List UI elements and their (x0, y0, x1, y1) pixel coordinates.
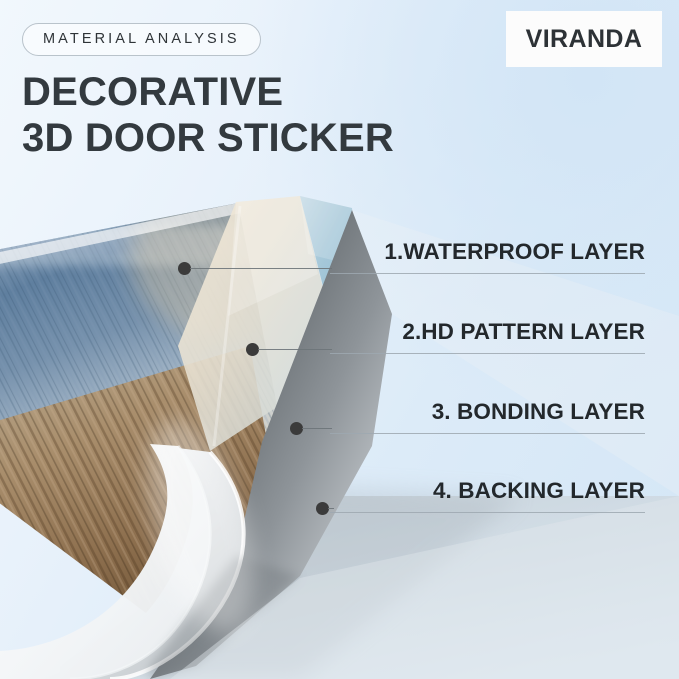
eyebrow-badge: MATERIAL ANALYSIS (22, 23, 261, 56)
callout-label-2: 2.HD PATTERN LAYER (402, 321, 645, 344)
callout-rule-3 (330, 433, 645, 434)
page-title: DECORATIVE 3D DOOR STICKER (22, 69, 394, 162)
callout-leader-2 (258, 349, 332, 350)
eyebrow-label: MATERIAL ANALYSIS (43, 31, 240, 47)
callout-hd-pattern-layer: 2.HD PATTERN LAYER (402, 321, 645, 344)
title-line-2: 3D DOOR STICKER (22, 115, 394, 161)
callout-leader-3 (302, 428, 332, 429)
brand-logo: VIRANDA (506, 11, 662, 67)
callout-rule-1 (330, 273, 645, 274)
title-line-1: DECORATIVE (22, 70, 283, 114)
callout-label-4: 4. BACKING LAYER (433, 480, 645, 503)
brand-name: VIRANDA (526, 25, 643, 54)
callout-rule-2 (330, 353, 645, 354)
product-infographic: MATERIAL ANALYSIS DECORATIVE 3D DOOR STI… (0, 0, 679, 679)
callout-backing-layer: 4. BACKING LAYER (433, 480, 645, 503)
callout-leader-1 (190, 268, 332, 269)
callout-leader-4 (328, 508, 334, 509)
callout-label-1: 1.WATERPROOF LAYER (384, 241, 645, 264)
callout-rule-4 (330, 512, 645, 513)
sticker-layers-illustration (0, 196, 679, 679)
callout-label-3: 3. BONDING LAYER (432, 401, 645, 424)
callout-bonding-layer: 3. BONDING LAYER (432, 401, 645, 424)
callout-waterproof-layer: 1.WATERPROOF LAYER (384, 241, 645, 264)
